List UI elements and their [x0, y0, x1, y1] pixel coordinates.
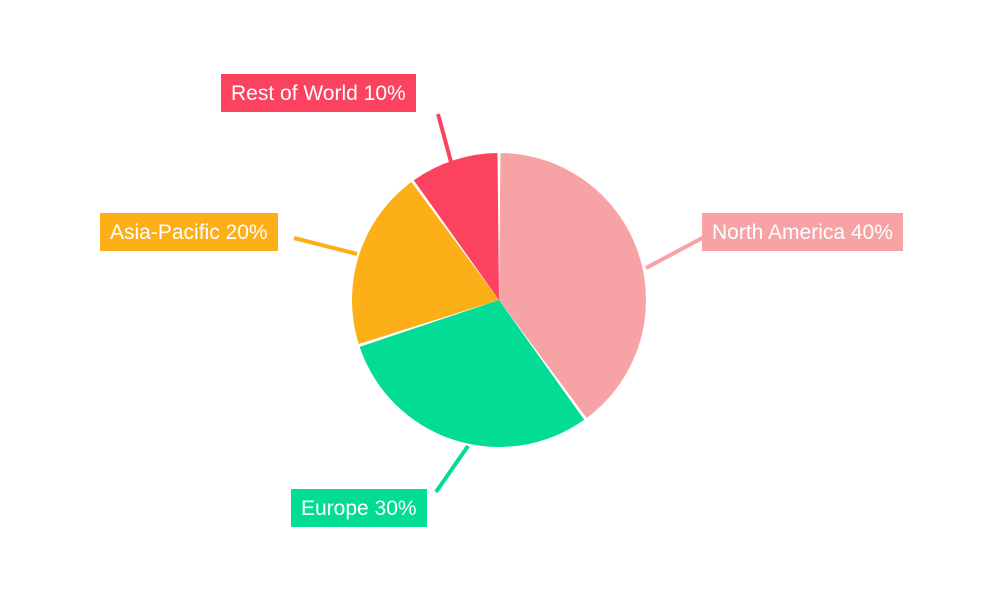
- pie-label-rest-of-world[interactable]: Rest of World 10%: [221, 74, 416, 112]
- leader-line-asia-pacific: [294, 238, 357, 254]
- pie-slices: [352, 153, 646, 447]
- pie-label-north-america[interactable]: North America 40%: [702, 213, 903, 251]
- pie-chart-svg: [0, 0, 1000, 600]
- pie-chart-canvas: North America 40% Europe 30% Asia-Pacifi…: [0, 0, 1000, 600]
- pie-label-asia-pacific[interactable]: Asia-Pacific 20%: [100, 213, 278, 251]
- leader-line-north-america: [646, 236, 706, 268]
- pie-label-europe[interactable]: Europe 30%: [291, 489, 427, 527]
- leader-line-europe: [436, 446, 468, 492]
